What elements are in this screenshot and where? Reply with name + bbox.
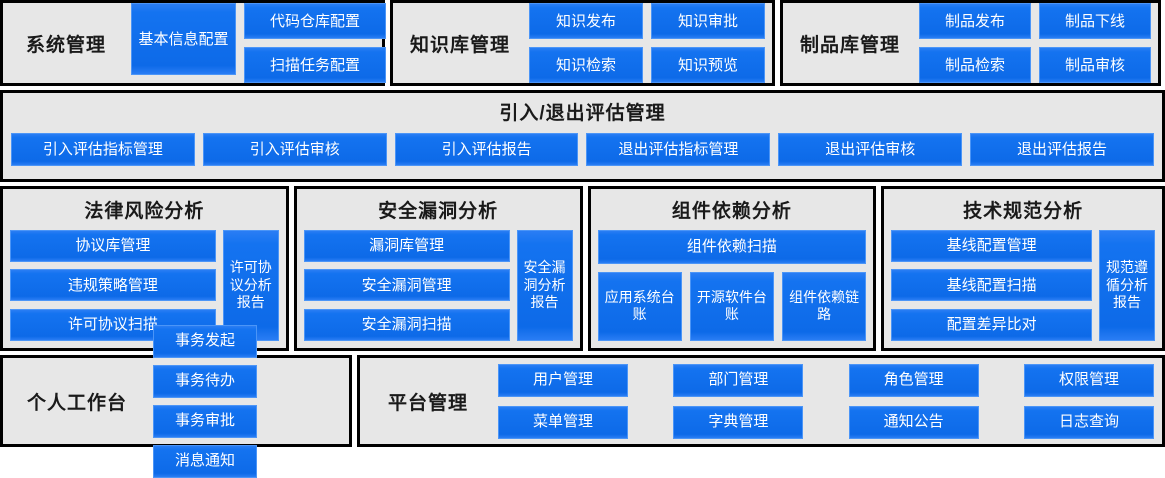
button-exit-assessment-report[interactable]: 退出评估报告 <box>970 133 1154 166</box>
button-task-initiate[interactable]: 事务发起 <box>153 325 257 358</box>
personal-workbench-title: 个人工作台 <box>11 388 143 415</box>
button-artifact-search[interactable]: 制品检索 <box>919 47 1031 83</box>
panel-artifact-repo-management: 制品库管理 制品发布 制品下线 制品检索 制品审核 <box>780 0 1161 86</box>
button-knowledge-search[interactable]: 知识检索 <box>529 47 643 83</box>
button-knowledge-publish[interactable]: 知识发布 <box>529 3 643 39</box>
button-artifact-publish[interactable]: 制品发布 <box>919 3 1031 39</box>
bottom-row: 个人工作台 事务发起 事务待办 事务审批 消息通知 平台管理 用户管理 部门管理… <box>0 355 1165 447</box>
button-exit-assessment-index-management[interactable]: 退出评估指标管理 <box>586 133 770 166</box>
button-task-approval[interactable]: 事务审批 <box>153 405 257 438</box>
button-knowledge-approval[interactable]: 知识审批 <box>651 3 765 39</box>
button-open-source-software-ledger[interactable]: 开源软件台账 <box>690 272 774 341</box>
button-security-vulnerability-report[interactable]: 安全漏洞分析报告 <box>517 230 573 341</box>
panel-technical-standard-analysis: 技术规范分析 基线配置管理 基线配置扫描 配置差异比对 规范遵循分析报告 <box>881 186 1165 351</box>
button-license-library-management[interactable]: 协议库管理 <box>10 230 216 262</box>
button-entry-assessment-index-management[interactable]: 引入评估指标管理 <box>11 133 195 166</box>
button-menu-management[interactable]: 菜单管理 <box>498 406 628 439</box>
system-management-title: 系统管理 <box>11 30 121 57</box>
button-entry-assessment-review[interactable]: 引入评估审核 <box>203 133 387 166</box>
personal-workbench-group: 个人工作台 事务发起 事务待办 事务审批 消息通知 <box>3 358 349 444</box>
platform-management-group: 平台管理 用户管理 部门管理 角色管理 权限管理 菜单管理 字典管理 通知公告 … <box>360 358 1162 444</box>
button-code-repo-config[interactable]: 代码仓库配置 <box>244 3 386 39</box>
button-baseline-config-scan[interactable]: 基线配置扫描 <box>891 269 1092 301</box>
system-architecture-page: 系统管理 基本信息配置 代码仓库配置 扫描任务配置 知识库管理 知识发布 知识审… <box>0 0 1165 447</box>
button-application-system-ledger[interactable]: 应用系统台账 <box>598 272 682 341</box>
button-dictionary-management[interactable]: 字典管理 <box>673 406 803 439</box>
button-baseline-config-management[interactable]: 基线配置管理 <box>891 230 1092 262</box>
button-component-dependency-scan[interactable]: 组件依赖扫描 <box>598 230 867 264</box>
button-exit-assessment-review[interactable]: 退出评估审核 <box>778 133 962 166</box>
button-user-management[interactable]: 用户管理 <box>498 364 628 397</box>
knowledge-base-title: 知识库管理 <box>401 30 519 57</box>
button-standard-compliance-report[interactable]: 规范遵循分析报告 <box>1099 230 1155 341</box>
button-scan-task-config[interactable]: 扫描任务配置 <box>244 47 386 83</box>
assessment-title: 引入/退出评估管理 <box>9 95 1156 125</box>
system-management-group: 系统管理 基本信息配置 代码仓库配置 扫描任务配置 <box>3 3 382 83</box>
security-vulnerability-title: 安全漏洞分析 <box>304 192 573 230</box>
button-vulnerability-library-management[interactable]: 漏洞库管理 <box>304 230 510 262</box>
knowledge-base-group: 知识库管理 知识发布 知识审批 知识检索 知识预览 <box>393 3 772 83</box>
button-component-dependency-chain[interactable]: 组件依赖链路 <box>782 272 866 341</box>
button-config-difference-comparison[interactable]: 配置差异比对 <box>891 309 1092 341</box>
assessment-row: 引入/退出评估管理 引入评估指标管理 引入评估审核 引入评估报告 退出评估指标管… <box>0 90 1165 181</box>
button-log-query[interactable]: 日志查询 <box>1024 406 1154 439</box>
button-task-todo[interactable]: 事务待办 <box>153 365 257 398</box>
button-artifact-audit[interactable]: 制品审核 <box>1039 47 1151 83</box>
panel-personal-workbench: 个人工作台 事务发起 事务待办 事务审批 消息通知 <box>0 355 352 447</box>
button-department-management[interactable]: 部门管理 <box>673 364 803 397</box>
button-role-management[interactable]: 角色管理 <box>849 364 979 397</box>
button-violation-policy-management[interactable]: 违规策略管理 <box>10 269 216 301</box>
legal-risk-title: 法律风险分析 <box>10 192 279 230</box>
button-notice-announcement[interactable]: 通知公告 <box>849 406 979 439</box>
button-message-notification[interactable]: 消息通知 <box>153 445 257 478</box>
panel-assessment-management: 引入/退出评估管理 引入评估指标管理 引入评估审核 引入评估报告 退出评估指标管… <box>0 90 1165 181</box>
button-knowledge-preview[interactable]: 知识预览 <box>651 47 765 83</box>
button-security-vulnerability-management[interactable]: 安全漏洞管理 <box>304 269 510 301</box>
artifact-repo-title: 制品库管理 <box>791 30 909 57</box>
component-dependency-title: 组件依赖分析 <box>598 192 867 230</box>
artifact-repo-group: 制品库管理 制品发布 制品下线 制品检索 制品审核 <box>783 3 1158 83</box>
technical-standard-title: 技术规范分析 <box>891 192 1155 230</box>
platform-management-title: 平台管理 <box>368 388 488 415</box>
panel-platform-management: 平台管理 用户管理 部门管理 角色管理 权限管理 菜单管理 字典管理 通知公告 … <box>357 355 1165 447</box>
button-permission-management[interactable]: 权限管理 <box>1024 364 1154 397</box>
button-entry-assessment-report[interactable]: 引入评估报告 <box>395 133 579 166</box>
panel-component-dependency-analysis: 组件依赖分析 组件依赖扫描 应用系统台账 开源软件台账 组件依赖链路 <box>588 186 877 351</box>
panel-knowledge-base-management: 知识库管理 知识发布 知识审批 知识检索 知识预览 <box>390 0 775 86</box>
panel-system-management: 系统管理 基本信息配置 代码仓库配置 扫描任务配置 <box>0 0 385 86</box>
assessment-buttons: 引入评估指标管理 引入评估审核 引入评估报告 退出评估指标管理 退出评估审核 退… <box>9 125 1156 172</box>
button-artifact-offline[interactable]: 制品下线 <box>1039 3 1151 39</box>
button-basic-info-config[interactable]: 基本信息配置 <box>131 3 236 75</box>
top-row: 系统管理 基本信息配置 代码仓库配置 扫描任务配置 知识库管理 知识发布 知识审… <box>0 0 1165 86</box>
